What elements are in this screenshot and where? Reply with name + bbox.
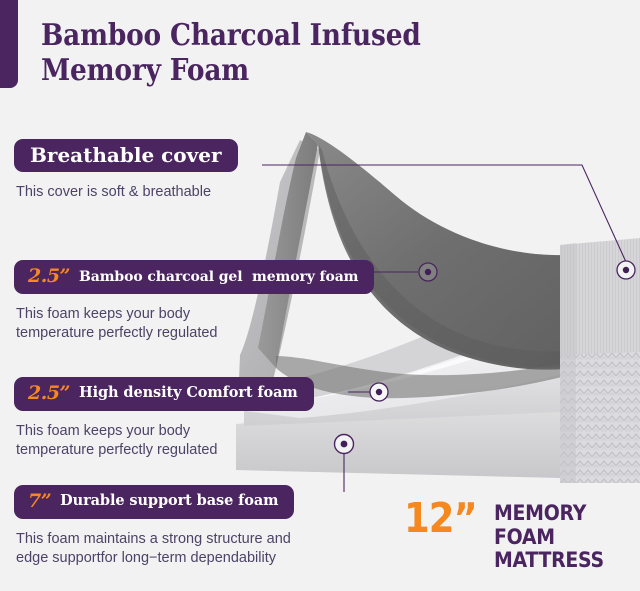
badge-gel-measure: 2.5” — [28, 267, 70, 286]
badge-comfort-measure: 2.5” — [28, 384, 70, 403]
badge-base-label: Durable support base foam — [60, 494, 278, 509]
callout-base: 7” Durable support base foam This foam m… — [14, 485, 294, 567]
product-infographic: Bamboo Charcoal Infused Memory Foam — [0, 0, 640, 591]
badge-gel-label: Bamboo charcoal gel memory foam — [79, 270, 358, 284]
callout-gel-description: This foam keeps your body temperature pe… — [16, 305, 374, 342]
callout-dot-marker-cover — [617, 261, 635, 279]
callout-comfort-description: This foam keeps your body temperature pe… — [16, 422, 314, 459]
badge-base[interactable]: 7” Durable support base foam — [14, 485, 294, 519]
callout-gel: 2.5” Bamboo charcoal gel memory foam Thi… — [14, 260, 374, 342]
badge-base-measure: 7” — [28, 492, 51, 511]
callout-cover: Breathable cover This cover is soft & br… — [14, 139, 238, 202]
callout-dot-marker-comfort — [370, 383, 388, 401]
callout-base-description: This foam maintains a strong structure a… — [16, 530, 294, 567]
badge-cover-label: Breathable cover — [30, 145, 222, 165]
footer-spec: 12” MEMORY FOAM MATTRESS — [404, 500, 640, 573]
badge-gel[interactable]: 2.5” Bamboo charcoal gel memory foam — [14, 260, 374, 294]
badge-comfort-label: High density Comfort foam — [79, 386, 298, 401]
footer-size: 12” — [404, 500, 477, 537]
callout-comfort: 2.5” High density Comfort foam This foam… — [14, 377, 314, 459]
callout-cover-description: This cover is soft & breathable — [16, 183, 238, 202]
callout-dot-marker-base — [335, 435, 354, 454]
footer-product-name: MEMORY FOAM MATTRESS — [494, 502, 625, 573]
callout-dot-marker-gel — [419, 263, 437, 281]
badge-comfort[interactable]: 2.5” High density Comfort foam — [14, 377, 314, 411]
badge-cover[interactable]: Breathable cover — [14, 139, 238, 172]
